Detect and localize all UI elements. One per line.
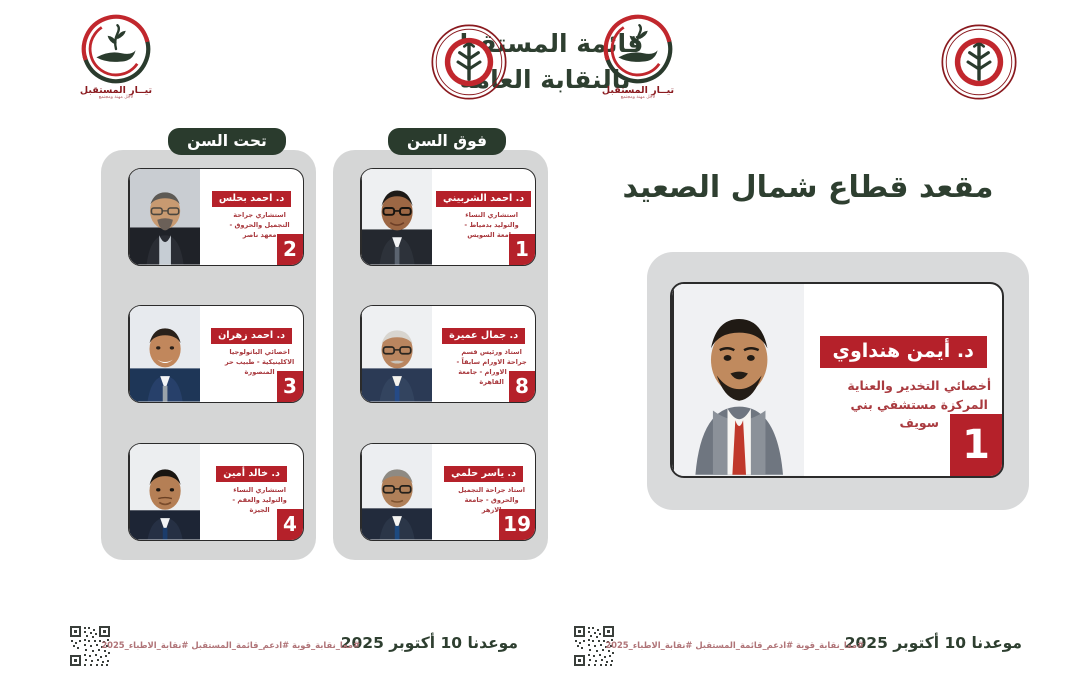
tayar-logo-secondary: تيــار المستقبل لأجل مهنة ومجتمع (592, 14, 684, 118)
candidate-card[interactable]: د. ياسر حلمي استاذ جراحة التجميل والحروق… (360, 443, 536, 541)
column-above-age: د. احمد الشربيني استشاري النساء والتوليد… (333, 150, 548, 560)
footer-block-right: موعدنا 10 أكتوبر 2025 #معا_نقابة_قوية #ا… (554, 614, 1024, 676)
candidate-photo (129, 306, 200, 402)
portrait-placeholder-icon (362, 444, 432, 540)
column-tab-under-age: تحت السن (168, 128, 286, 155)
candidate-number-badge: 2 (277, 234, 303, 265)
candidate-name: د. ياسر حلمي (444, 466, 523, 482)
ems-logo-primary (430, 23, 508, 101)
candidate-number-badge: 3 (277, 371, 303, 402)
portrait-placeholder-icon (362, 306, 432, 402)
portrait-placeholder-icon (130, 169, 200, 265)
candidate-photo (361, 169, 432, 265)
candidate-photo (129, 444, 200, 540)
future-current-emblem-icon (603, 14, 673, 84)
candidate-info: د. جمال عميرة استاذ ورئيس قسم جراحة الاو… (432, 306, 535, 402)
footer-date-text: موعدنا 10 أكتوبر 2025 (341, 634, 518, 652)
egyptian-medical-syndicate-icon (940, 23, 1018, 101)
footer-hashtags: #معا_نقابة_قوية #ادعم_قائمة_المستقبل #نق… (605, 640, 864, 650)
ems-logo-secondary (940, 23, 1018, 101)
candidate-number-badge: 8 (509, 371, 535, 402)
egyptian-medical-syndicate-icon (430, 23, 508, 101)
featured-candidate-card[interactable]: د. أيمن هنداوي أخصائي التخدير والعناية ا… (670, 282, 1004, 478)
portrait-placeholder-icon (362, 169, 432, 265)
footer-date-text: موعدنا 10 أكتوبر 2025 (845, 634, 1022, 652)
candidate-number-badge: 1 (509, 234, 535, 265)
portrait-placeholder-icon (130, 306, 200, 402)
candidate-photo (129, 169, 200, 265)
column-under-age: د. احمد بحلس استشاري جراحة التجميل والحر… (101, 150, 316, 560)
featured-seat-section: مقعد قطاع شمال الصعيد د. أيمن هنداوي أخص… (578, 170, 1038, 530)
featured-card-shell: د. أيمن هنداوي أخصائي التخدير والعناية ا… (647, 252, 1029, 510)
candidate-card[interactable]: د. جمال عميرة استاذ ورئيس قسم جراحة الاو… (360, 305, 536, 403)
candidate-name: د. احمد زهران (211, 328, 292, 344)
featured-candidate-number-badge: 1 (950, 414, 1002, 476)
portrait-placeholder-icon (130, 444, 200, 540)
candidate-info: د. احمد بحلس استشاري جراحة التجميل والحر… (200, 169, 303, 265)
tayar-logo-primary: تيــار المستقبل لأجل مهنة ومجتمع (70, 14, 162, 118)
candidate-card[interactable]: د. خالد أمين استشاري النساء والتوليد وال… (128, 443, 304, 541)
candidate-info: د. احمد زهران اخصائي الباثولوجيا الاكلين… (200, 306, 303, 402)
footer-block-left: موعدنا 10 أكتوبر 2025 #معا_نقابة_قوية #ا… (50, 614, 520, 676)
featured-candidate-info: د. أيمن هنداوي أخصائي التخدير والعناية ا… (804, 284, 1002, 476)
candidate-columns: فوق السن تحت السن د. احمد الشربيني استشا… (68, 128, 548, 573)
candidate-card[interactable]: د. احمد زهران اخصائي الباثولوجيا الاكلين… (128, 305, 304, 403)
future-current-emblem-icon (81, 14, 151, 84)
poster-header: تيــار المستقبل لأجل مهنة ومجتمع قائمة ا… (0, 0, 1076, 125)
candidate-info: د. خالد أمين استشاري النساء والتوليد وال… (200, 444, 303, 540)
candidate-number-badge: 4 (277, 509, 303, 540)
footer-hashtags: #معا_نقابة_قوية #ادعم_قائمة_المستقبل #نق… (101, 640, 360, 650)
candidate-name: د. احمد بحلس (212, 191, 291, 207)
portrait-placeholder-icon (674, 284, 804, 475)
candidate-number-badge: 19 (499, 509, 535, 540)
tayar-logo-wordmark: تيــار المستقبل لأجل مهنة ومجتمع (592, 86, 684, 101)
tayar-logo-wordmark: تيــار المستقبل لأجل مهنة ومجتمع (70, 86, 162, 101)
candidate-name: د. خالد أمين (216, 466, 287, 482)
featured-seat-title: مقعد قطاع شمال الصعيد (578, 170, 1038, 205)
featured-candidate-photo (672, 284, 804, 476)
candidate-card[interactable]: د. احمد الشربيني استشاري النساء والتوليد… (360, 168, 536, 266)
candidate-card[interactable]: د. احمد بحلس استشاري جراحة التجميل والحر… (128, 168, 304, 266)
featured-candidate-name: د. أيمن هنداوي (820, 336, 987, 368)
column-tab-above-age: فوق السن (388, 128, 506, 155)
poster-root: تيــار المستقبل لأجل مهنة ومجتمع قائمة ا… (0, 0, 1076, 684)
candidate-name: د. احمد الشربيني (436, 191, 531, 207)
candidate-photo (361, 444, 432, 540)
candidate-info: د. ياسر حلمي استاذ جراحة التجميل والحروق… (432, 444, 535, 540)
candidate-info: د. احمد الشربيني استشاري النساء والتوليد… (432, 169, 535, 265)
candidate-name: د. جمال عميرة (442, 328, 525, 344)
candidate-photo (361, 306, 432, 402)
